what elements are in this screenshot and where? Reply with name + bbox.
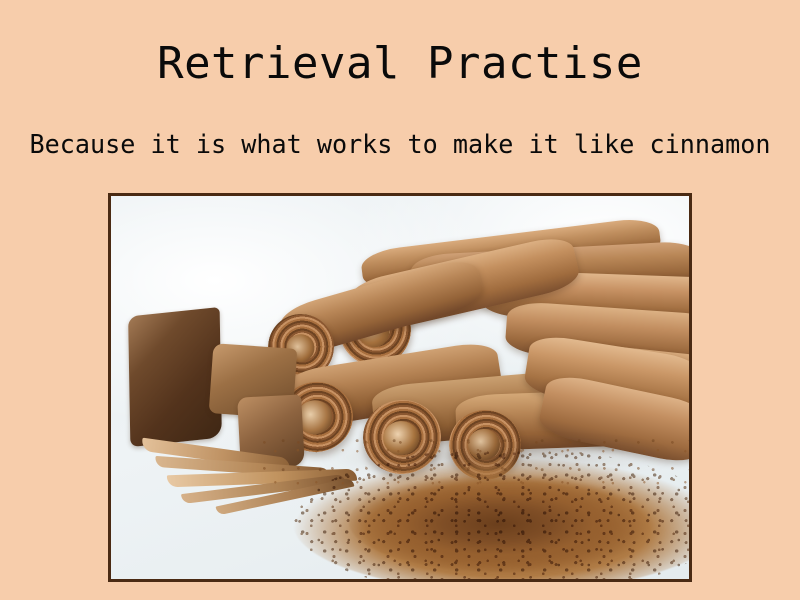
cinnamon-bark-chip-large	[128, 307, 222, 447]
photo-frame	[108, 193, 692, 582]
slide: Retrieval Practise Because it is what wo…	[0, 0, 800, 600]
slide-subtitle: Because it is what works to make it like…	[6, 128, 794, 162]
cinnamon-photo	[111, 196, 689, 579]
page-title: Retrieval Practise	[0, 38, 800, 90]
